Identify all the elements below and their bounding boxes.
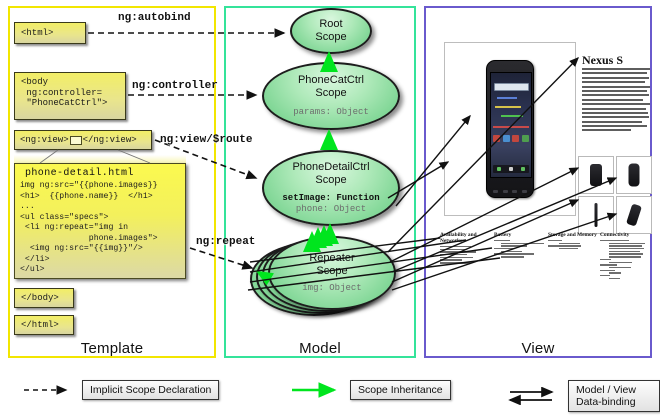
phone-screen bbox=[490, 72, 532, 178]
spec-storage: Storage and Memory bbox=[548, 232, 600, 251]
label-ng-repeat: ng:repeat bbox=[196, 236, 255, 248]
label-ng-controller: ng:controller bbox=[132, 80, 218, 92]
note-code: img ng:src="{{phone.images}} <h1> {{phon… bbox=[15, 181, 185, 279]
scope-phonedetailctrl-prop-phone: phone: Object bbox=[296, 204, 366, 215]
thumbnail-angled[interactable] bbox=[616, 196, 652, 234]
scope-phonecatctrl-title: PhoneCatCtrl Scope bbox=[298, 74, 364, 99]
scope-repeater-title: Repeater Scope bbox=[309, 252, 354, 277]
scope-repeater-prop-img: img: Object bbox=[302, 283, 361, 294]
spec-availability: Availability and Networks bbox=[440, 232, 492, 265]
code-html-open: <html> bbox=[14, 22, 86, 44]
view-body-text bbox=[582, 68, 650, 140]
legend-label-model-view-data-binding: Model / View Data-binding bbox=[568, 380, 660, 412]
scope-phonedetailctrl-prop-setimage: setImage: Function bbox=[282, 193, 379, 204]
legend-item-scope-inheritance: Scope Inheritance bbox=[290, 380, 451, 400]
scope-phonedetailctrl-title: PhoneDetailCtrl Scope bbox=[292, 161, 369, 186]
legend-item-implicit-scope-declaration: Implicit Scope Declaration bbox=[22, 380, 219, 400]
column-label-view: View bbox=[424, 340, 652, 357]
dashed-arrow-icon bbox=[22, 381, 74, 399]
phone-app-icons bbox=[493, 135, 529, 142]
label-ng-autobind: ng:autobind bbox=[118, 12, 191, 24]
legend-label-implicit-scope-declaration: Implicit Scope Declaration bbox=[82, 380, 219, 400]
ngview-open-tag: <ng:view> bbox=[20, 135, 69, 146]
view-thumbnail-grid bbox=[578, 156, 652, 232]
code-html-close: </html> bbox=[14, 315, 74, 335]
angularjs-architecture-diagram: Nexus S Availability and Networks Batter… bbox=[0, 0, 660, 420]
scope-phonedetailctrl: PhoneDetailCtrl Scope setImage: Function… bbox=[262, 150, 400, 226]
double-arrow-icon bbox=[508, 387, 560, 405]
column-label-model: Model bbox=[224, 340, 416, 357]
solid-arrow-icon bbox=[290, 381, 342, 399]
nexus-s-phone-image bbox=[486, 60, 534, 198]
spec-battery: Battery bbox=[494, 232, 546, 259]
thumbnail-side[interactable] bbox=[578, 196, 614, 234]
scope-phonecatctrl: PhoneCatCtrl Scope params: Object bbox=[262, 62, 400, 130]
code-body-open: <body ng:controller= "PhoneCatCtrl"> bbox=[14, 72, 126, 120]
phone-detail-note: phone-detail.html img ng:src="{{phone.im… bbox=[14, 163, 186, 279]
ngview-close-tag: </ng:view> bbox=[83, 135, 137, 146]
label-ng-view-route: ng:view/$route bbox=[160, 134, 252, 146]
thumbnail-back[interactable] bbox=[616, 156, 652, 194]
placeholder-rect-icon bbox=[70, 136, 82, 145]
thumbnail-front[interactable] bbox=[578, 156, 614, 194]
phone-search-bar bbox=[494, 83, 529, 91]
legend-item-model-view-data-binding: Model / View Data-binding bbox=[508, 380, 660, 412]
code-ngview: <ng:view> </ng:view> bbox=[14, 130, 152, 150]
legend: Implicit Scope Declaration Scope Inherit… bbox=[0, 378, 660, 414]
code-body-close: </body> bbox=[14, 288, 74, 308]
view-heading: Nexus S bbox=[582, 53, 623, 68]
scope-phonecatctrl-prop-params: params: Object bbox=[293, 107, 369, 118]
scope-root-title: Root Scope bbox=[315, 18, 346, 43]
phone-dock bbox=[493, 165, 529, 173]
phone-button-row bbox=[491, 188, 529, 194]
scope-repeater: Repeater Scope img: Object bbox=[268, 236, 396, 310]
scope-root: Root Scope bbox=[290, 8, 372, 54]
spec-connectivity: Connectivity bbox=[600, 232, 650, 280]
legend-label-scope-inheritance: Scope Inheritance bbox=[350, 380, 451, 400]
column-label-template: Template bbox=[8, 340, 216, 357]
note-title: phone-detail.html bbox=[15, 164, 185, 181]
